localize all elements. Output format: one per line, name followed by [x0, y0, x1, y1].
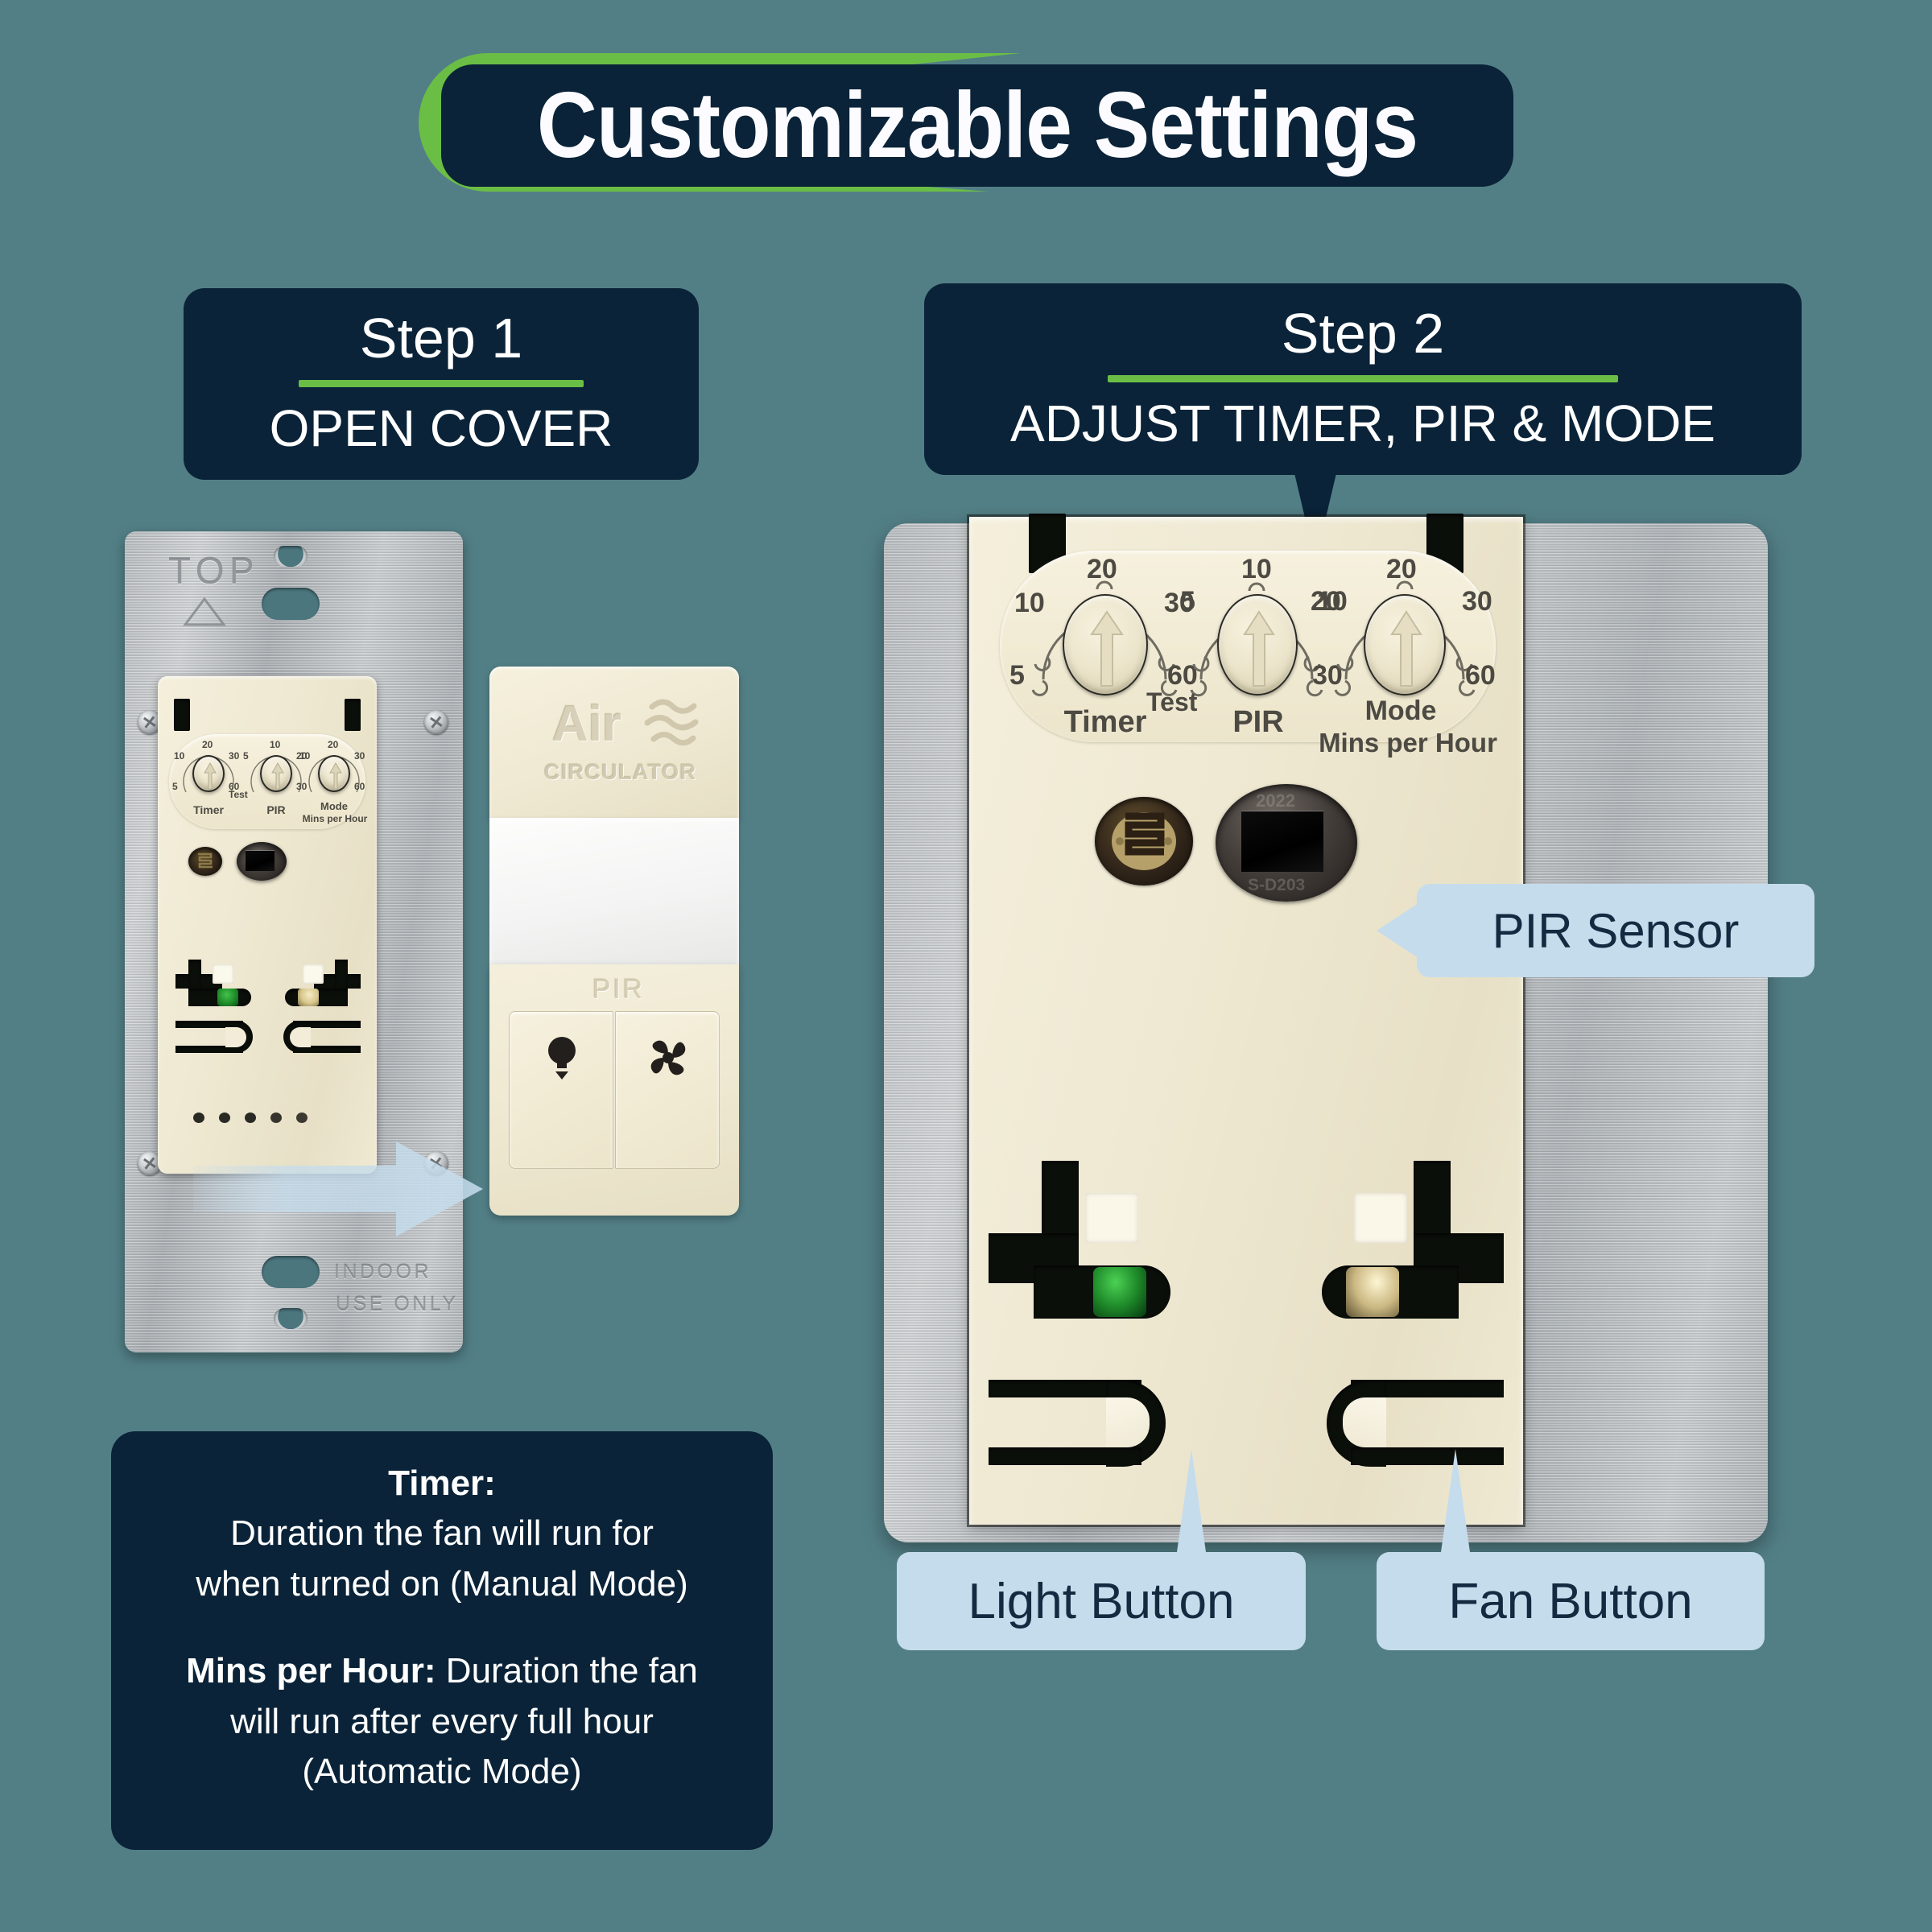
plate-screw-top-right: [424, 710, 448, 734]
mode-tick-tr: 30: [1462, 586, 1492, 617]
timer-tick-tr: 30: [229, 750, 239, 762]
timer-tick-top: 20: [202, 739, 213, 750]
press-button-right: [290, 1027, 311, 1047]
vent-dot-row: [193, 1111, 341, 1125]
device-body-large: 10 20 30 5 60 Timer: [969, 517, 1523, 1525]
plate-cutout-bottom: [262, 1256, 320, 1288]
airflow-waves-icon: [644, 689, 713, 747]
pir-lens-small: [237, 842, 287, 881]
step-1-number: Step 1: [360, 309, 522, 369]
fan-led-indicator: [298, 989, 319, 1006]
pir-tick-top: 10: [270, 739, 280, 750]
chip-square-right: [303, 964, 324, 984]
pir-sensor-callout: PIR Sensor: [1417, 884, 1814, 977]
brand-name: Air: [552, 696, 621, 753]
knob-arrow-icon: [1365, 596, 1447, 697]
pir-tick-test: Test: [229, 789, 248, 800]
step-2-divider: [1108, 375, 1618, 382]
pir-window: [246, 851, 275, 871]
pir-tick-test: Test: [1146, 687, 1197, 717]
pir-dial-label: PIR: [254, 803, 298, 816]
pir-knob[interactable]: [260, 755, 292, 792]
plate-screw-hole-top: [274, 546, 308, 567]
pir-lens-mark-bottom: S-D203: [1248, 876, 1305, 895]
open-cover-arrow-icon: [193, 1137, 483, 1241]
page-title-text: Customizable Settings: [537, 79, 1418, 172]
brand-subtitle: CIRCULATOR: [544, 760, 697, 785]
slot-vertical-right: [335, 960, 348, 989]
press-slot-bottom: [989, 1447, 1141, 1465]
timer-dial-label: Timer: [187, 803, 230, 816]
fan-button-assembly-small[interactable]: [272, 971, 361, 1075]
pir-sensor-callout-label: PIR Sensor: [1492, 903, 1740, 959]
cover-pir-label: PIR: [592, 974, 645, 1005]
fan-led-indicator: [1346, 1267, 1399, 1317]
cover-top-section: Air CIRCULATOR: [489, 667, 739, 818]
light-button-callout: Light Button: [897, 1552, 1306, 1650]
pir-tick-tl: 5: [1180, 586, 1195, 617]
up-triangle-icon: [183, 596, 226, 628]
photocell-sensor: [1095, 797, 1193, 885]
cover-light-button[interactable]: [509, 1011, 613, 1169]
pir-dial-label: PIR: [1198, 705, 1319, 740]
timer-info-line-2: when turned on (Manual Mode): [155, 1559, 729, 1609]
pir-knob-large[interactable]: [1217, 594, 1298, 696]
title-badge: Customizable Settings: [441, 64, 1513, 187]
knob-arrow-icon: [1219, 596, 1299, 697]
light-button-callout-label: Light Button: [968, 1573, 1235, 1630]
step-1-divider: [299, 380, 584, 387]
press-slot-bottom: [1351, 1447, 1504, 1465]
cover-fan-button[interactable]: [615, 1011, 720, 1169]
knob-arrow-icon: [1064, 596, 1150, 697]
mins-per-hour-rest: Duration the fan: [436, 1651, 698, 1690]
fan-button-callout-tail: [1441, 1449, 1470, 1552]
plate-indoor-label: INDOOR: [334, 1261, 431, 1284]
mode-tick-top: 20: [328, 739, 338, 750]
pir-tick-top: 10: [1241, 554, 1272, 585]
info-spacer: [155, 1609, 729, 1646]
knob-arrow-icon: [194, 757, 226, 794]
press-button-left: [225, 1027, 246, 1047]
slot-vertical-left: [188, 960, 201, 989]
chip-square-left: [1085, 1193, 1138, 1243]
chip-square-right: [1354, 1193, 1407, 1243]
pir-dial[interactable]: 5 10 20 30 Test PIR: [1185, 567, 1328, 741]
pir-lens: 2022 S-D203: [1216, 784, 1357, 902]
timer-tick-bl: 5: [1009, 660, 1025, 691]
clip-slot-right: [345, 699, 361, 731]
timer-tick-bl: 5: [172, 781, 178, 792]
clip-slot-left: [174, 699, 190, 731]
mode-dial-sublabel: Mins per Hour: [296, 813, 374, 824]
plate-top-label: TOP: [168, 549, 259, 592]
step-2-device-photo: 10 20 30 5 60 Timer: [884, 523, 1768, 1542]
plate-cutout-top: [262, 588, 320, 620]
timer-tick-tl: 10: [1014, 588, 1045, 619]
mode-dial[interactable]: 10 20 30 60 Mode Mins per Hour: [1328, 567, 1481, 741]
pir-sensor-callout-tail: [1377, 903, 1418, 958]
step-2-header: Step 2 ADJUST TIMER, PIR & MODE: [924, 283, 1802, 475]
mode-tick-br: 60: [354, 781, 365, 792]
mode-tick-br: 60: [1465, 660, 1496, 691]
lightbulb-icon: [543, 1033, 580, 1083]
timer-info-line-1: Duration the fan will run for: [155, 1509, 729, 1558]
cover-bottom-section: PIR: [489, 964, 739, 1216]
photocell-squiggle-icon: [1095, 797, 1193, 885]
timer-tick-top: 20: [1087, 554, 1117, 585]
knob-arrow-icon: [262, 757, 294, 794]
settings-info-panel: Timer: Duration the fan will run for whe…: [111, 1431, 773, 1850]
light-led-indicator: [217, 989, 238, 1006]
knob-arrow-icon: [320, 757, 352, 794]
mode-knob[interactable]: [318, 755, 350, 792]
fan-press-button[interactable]: [1343, 1397, 1386, 1447]
pir-dial-small[interactable]: 5 10 20 30 Test PIR: [246, 742, 306, 821]
mode-dial-label: Mode: [1336, 696, 1465, 727]
pir-lens-mark-top: 2022: [1256, 791, 1295, 811]
light-button-callout-tail: [1177, 1449, 1206, 1552]
pir-window: [1241, 811, 1323, 873]
timer-knob-large[interactable]: [1063, 594, 1148, 696]
timer-info-heading: Timer:: [155, 1459, 729, 1509]
timer-knob[interactable]: [192, 755, 225, 792]
mins-per-hour-heading: Mins per Hour:: [186, 1651, 436, 1690]
mode-tick-top: 20: [1386, 554, 1417, 585]
light-button-assembly[interactable]: [989, 1161, 1246, 1507]
light-press-button[interactable]: [1106, 1397, 1150, 1447]
cover-piece[interactable]: Air CIRCULATOR PIR: [489, 667, 739, 1216]
step-2-subtitle: ADJUST TIMER, PIR & MODE: [1010, 397, 1715, 451]
light-led-indicator: [1093, 1267, 1146, 1317]
fan-icon: [643, 1034, 693, 1081]
infographic-canvas: Customizable Settings Step 1 OPEN COVER …: [0, 0, 1932, 1932]
mode-dial-label: Mode: [311, 800, 357, 812]
mode-dial-small[interactable]: 10 20 30 60 Mode Mins per Hour: [304, 742, 364, 821]
mins-per-hour-info-line-3: (Automatic Mode): [155, 1747, 729, 1797]
plate-screw-hole-bottom: [274, 1308, 308, 1329]
pir-tick-tl: 5: [243, 750, 249, 762]
timer-tick-tl: 10: [174, 750, 184, 762]
mode-tick-tr: 30: [354, 750, 365, 762]
plate-use-only-label: USE ONLY: [336, 1293, 459, 1316]
mode-knob-large[interactable]: [1364, 594, 1446, 696]
step-2-number: Step 2: [1282, 304, 1444, 364]
mode-tick-tl: 10: [299, 750, 310, 762]
fan-button-callout: Fan Button: [1377, 1552, 1765, 1650]
step-1-subtitle: OPEN COVER: [270, 402, 613, 456]
step-1-header: Step 1 OPEN COVER: [184, 288, 699, 480]
page-title: Customizable Settings: [419, 47, 1529, 200]
mode-dial-sublabel: Mins per Hour: [1307, 728, 1509, 758]
fan-button-callout-label: Fan Button: [1448, 1573, 1692, 1630]
timer-dial-small[interactable]: 10 20 30 5 60 Timer: [179, 742, 238, 821]
chip-square-left: [213, 964, 233, 984]
mode-tick-tl: 10: [1317, 586, 1348, 617]
photocell-sensor-small: [188, 847, 222, 876]
device-body-small: 10 20 30 5 60 Timer 5 10 20: [158, 676, 377, 1174]
mins-per-hour-info-line-2: will run after every full hour: [155, 1697, 729, 1747]
cover-sensor-window: [489, 818, 739, 964]
light-button-assembly-small[interactable]: [175, 971, 264, 1075]
photocell-squiggle-icon: [188, 847, 222, 876]
mins-per-hour-info-line-1: Mins per Hour: Duration the fan: [155, 1646, 729, 1696]
